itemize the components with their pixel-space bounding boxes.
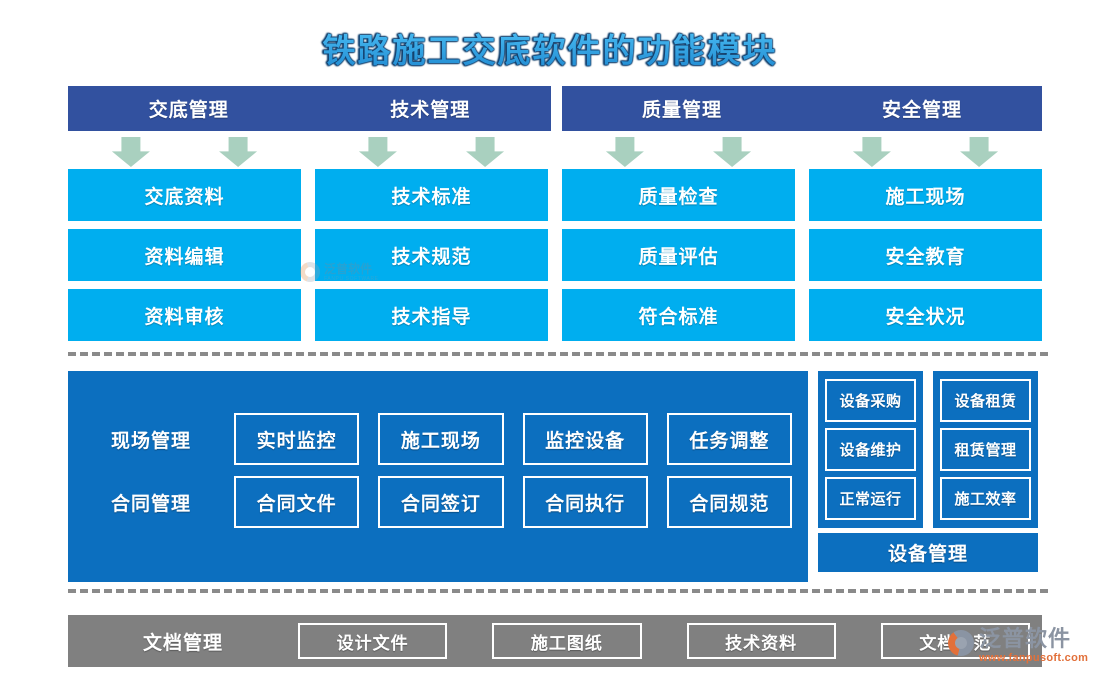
operations-row-site: 现场管理 实时监控 施工现场 监控设备 任务调整 bbox=[68, 413, 808, 465]
brand-name: 泛普软件 bbox=[979, 628, 1088, 650]
module-cell[interactable]: 安全教育 bbox=[809, 229, 1042, 281]
row-label-contract: 合同管理 bbox=[68, 489, 234, 516]
operations-rows: 现场管理 实时监控 施工现场 监控设备 任务调整 合同管理 合同文件 合同签订 … bbox=[68, 413, 808, 539]
header-bar-left: 交底管理 技术管理 bbox=[68, 86, 551, 131]
fanpu-logo-icon bbox=[948, 630, 974, 656]
document-panel: 文档管理 设计文件 施工图纸 技术资料 文档规范 bbox=[68, 615, 1042, 667]
down-arrow-icon bbox=[606, 137, 644, 167]
document-cell[interactable]: 设计文件 bbox=[298, 623, 447, 659]
header-cell-zhiliang[interactable]: 质量管理 bbox=[562, 95, 802, 122]
document-cell[interactable]: 技术资料 bbox=[687, 623, 836, 659]
down-arrow-icon bbox=[112, 137, 150, 167]
brand-url: www.fanpusoft.com bbox=[979, 653, 1088, 664]
diagram-canvas: 铁路施工交底软件的功能模块 交底管理 技术管理 质量管理 安全管理 交底资料 技… bbox=[0, 0, 1100, 700]
module-row: 资料编辑 技术规范 质量评估 安全教育 bbox=[68, 229, 1042, 281]
operations-cell[interactable]: 监控设备 bbox=[523, 413, 648, 465]
operations-row-contract: 合同管理 合同文件 合同签订 合同执行 合同规范 bbox=[68, 476, 808, 528]
equipment-cell[interactable]: 设备维护 bbox=[825, 428, 916, 471]
header-cell-jishu[interactable]: 技术管理 bbox=[310, 95, 552, 122]
arrow-row bbox=[68, 137, 1042, 167]
equipment-footer-label[interactable]: 设备管理 bbox=[818, 533, 1038, 572]
row-label-site: 现场管理 bbox=[68, 426, 234, 453]
module-cell[interactable]: 资料审核 bbox=[68, 289, 301, 341]
operations-cell[interactable]: 合同执行 bbox=[523, 476, 648, 528]
module-cell[interactable]: 交底资料 bbox=[68, 169, 301, 221]
module-cell[interactable]: 技术规范 bbox=[315, 229, 548, 281]
module-cell[interactable]: 符合标准 bbox=[562, 289, 795, 341]
module-row: 交底资料 技术标准 质量检查 施工现场 bbox=[68, 169, 1042, 221]
equipment-cell[interactable]: 正常运行 bbox=[825, 477, 916, 520]
equipment-cell[interactable]: 租赁管理 bbox=[940, 428, 1031, 471]
module-grid: 交底资料 技术标准 质量检查 施工现场 资料编辑 技术规范 质量评估 安全教育 … bbox=[68, 169, 1042, 349]
operations-cell[interactable]: 合同规范 bbox=[667, 476, 792, 528]
operations-cell[interactable]: 合同签订 bbox=[378, 476, 503, 528]
down-arrow-icon bbox=[713, 137, 751, 167]
equipment-cell[interactable]: 设备租赁 bbox=[940, 379, 1031, 422]
document-cell[interactable]: 施工图纸 bbox=[492, 623, 641, 659]
document-panel-label: 文档管理 bbox=[68, 628, 298, 655]
operations-cell[interactable]: 实时监控 bbox=[234, 413, 359, 465]
operations-cell[interactable]: 任务调整 bbox=[667, 413, 792, 465]
module-cell[interactable]: 技术指导 bbox=[315, 289, 548, 341]
module-row: 资料审核 技术指导 符合标准 安全状况 bbox=[68, 289, 1042, 341]
module-cell[interactable]: 质量评估 bbox=[562, 229, 795, 281]
operations-cell[interactable]: 施工现场 bbox=[378, 413, 503, 465]
row-cells-contract: 合同文件 合同签订 合同执行 合同规范 bbox=[234, 476, 808, 528]
divider-bottom bbox=[68, 589, 1048, 593]
down-arrow-icon bbox=[219, 137, 257, 167]
row-cells-site: 实时监控 施工现场 监控设备 任务调整 bbox=[234, 413, 808, 465]
down-arrow-icon bbox=[853, 137, 891, 167]
equipment-cell[interactable]: 施工效率 bbox=[940, 477, 1031, 520]
equipment-cell[interactable]: 设备采购 bbox=[825, 379, 916, 422]
header-cell-jiaodi[interactable]: 交底管理 bbox=[68, 95, 310, 122]
module-cell[interactable]: 安全状况 bbox=[809, 289, 1042, 341]
operations-panel: 现场管理 实时监控 施工现场 监控设备 任务调整 合同管理 合同文件 合同签订 … bbox=[68, 371, 808, 582]
header-cell-anquan[interactable]: 安全管理 bbox=[802, 95, 1042, 122]
brand-logo-text: 泛普软件 www.fanpusoft.com bbox=[979, 628, 1088, 664]
module-cell[interactable]: 技术标准 bbox=[315, 169, 548, 221]
down-arrow-icon bbox=[359, 137, 397, 167]
brand-logo: 泛普软件 www.fanpusoft.com bbox=[948, 628, 1088, 664]
operations-cell[interactable]: 合同文件 bbox=[234, 476, 359, 528]
document-cells: 设计文件 施工图纸 技术资料 文档规范 bbox=[298, 623, 1042, 659]
module-cell[interactable]: 质量检查 bbox=[562, 169, 795, 221]
equipment-column-b: 设备租赁 租赁管理 施工效率 bbox=[933, 371, 1038, 528]
header-bar-right: 质量管理 安全管理 bbox=[562, 86, 1042, 131]
down-arrow-icon bbox=[466, 137, 504, 167]
module-cell[interactable]: 施工现场 bbox=[809, 169, 1042, 221]
module-cell[interactable]: 资料编辑 bbox=[68, 229, 301, 281]
down-arrow-icon bbox=[960, 137, 998, 167]
equipment-column-a: 设备采购 设备维护 正常运行 bbox=[818, 371, 923, 528]
page-title: 铁路施工交底软件的功能模块 bbox=[0, 24, 1100, 72]
divider-top bbox=[68, 352, 1048, 356]
